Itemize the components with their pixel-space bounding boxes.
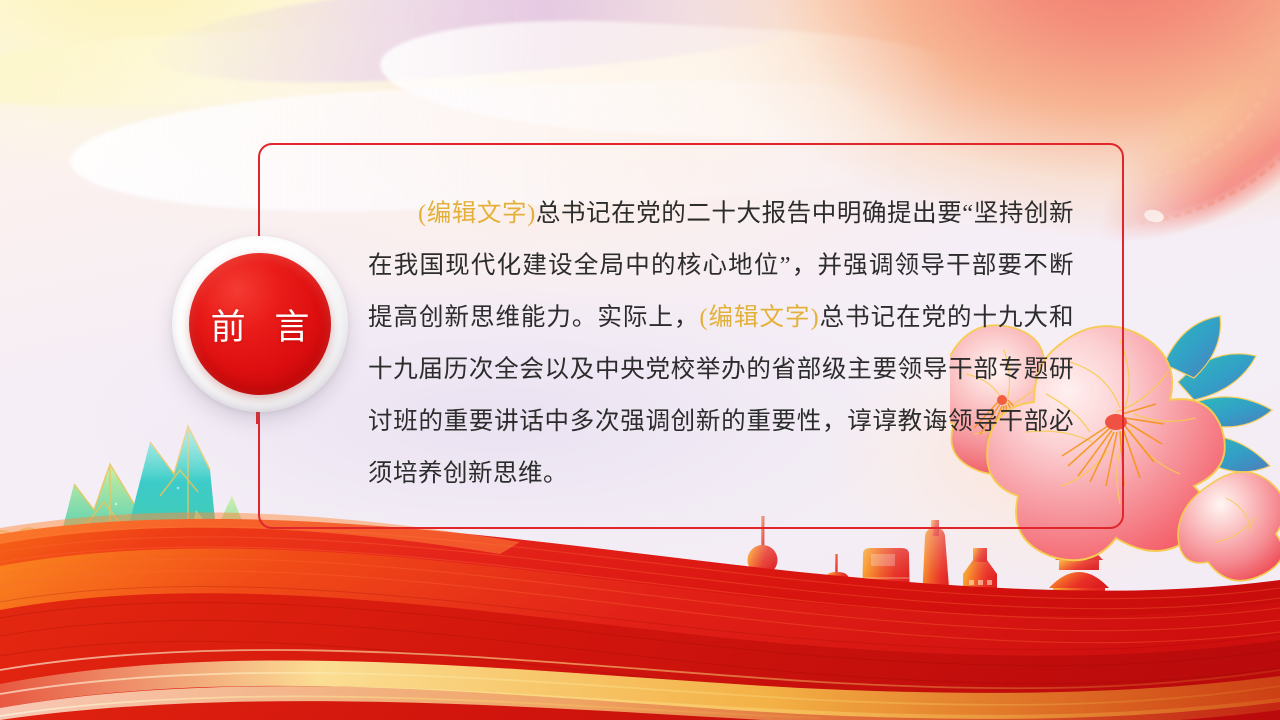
temple-of-heaven-landmark — [1041, 530, 1117, 664]
slide-canvas: (编辑文字)总书记在党的二十大报告中明确提出要“坚持创新在我国现代化建设全局中的… — [0, 0, 1280, 720]
peony-edge — [1178, 472, 1280, 581]
body-paragraph: (编辑文字)总书记在党的二十大报告中明确提出要“坚持创新在我国现代化建设全局中的… — [368, 188, 1074, 500]
shanghai-tower-landmark — [919, 520, 955, 664]
stepped-tower-landmark — [963, 548, 997, 664]
cityscape-icon — [415, 514, 1135, 664]
bg-streak-purple — [148, 0, 873, 100]
editable-text-placeholder: (编辑文字) — [699, 304, 819, 331]
badge-label: 前 言 — [201, 299, 320, 350]
building-block — [789, 620, 823, 664]
birds-nest-landmark — [429, 622, 618, 664]
oriental-pearl-landmark — [745, 516, 780, 664]
jinmao-landmark — [825, 554, 849, 664]
bg-streak-white-upper — [378, 9, 1023, 152]
leaf-cluster — [1164, 316, 1272, 472]
cctv-tower-landmark — [603, 564, 715, 664]
badge-red-disc: 前 言 — [189, 253, 331, 395]
five-point-star-icon — [1067, 18, 1129, 72]
body-text-run: 总书记在党的十九大和十九届历次全会以及中央党校举办的省部级主要领导干部专题研讨班… — [368, 304, 1074, 487]
bg-streak-yellow — [0, 12, 621, 119]
preface-badge[interactable]: 前 言 — [172, 236, 348, 412]
swfc-landmark — [861, 548, 911, 664]
flowers-left-icon — [250, 520, 670, 650]
dome-building-landmark — [1001, 622, 1043, 664]
editable-text-placeholder: (编辑文字) — [418, 200, 536, 227]
